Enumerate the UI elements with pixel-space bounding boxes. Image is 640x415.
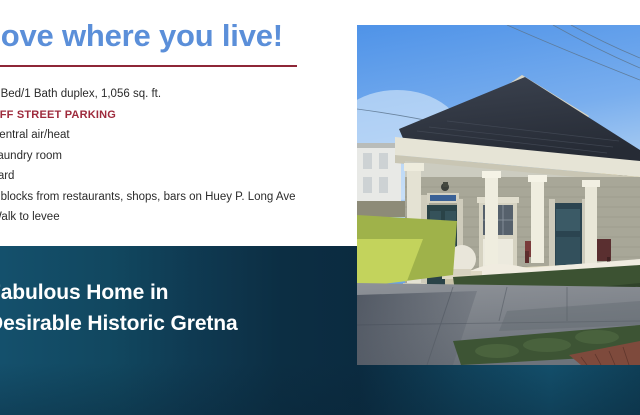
list-item-highlight: OFF STREET PARKING — [0, 105, 351, 126]
banner-title-line1: Fabulous Home in — [0, 281, 168, 304]
banner-title-line2: Desirable Historic Gretna — [0, 308, 408, 339]
feature-list: 2 Bed/1 Bath duplex, 1,056 sq. ft. OFF S… — [0, 84, 351, 228]
info-card: Love where you live! 2 Bed/1 Bath duplex… — [0, 0, 357, 246]
list-item: Laundry room — [0, 146, 351, 167]
list-item: 2 blocks from restaurants, shops, bars o… — [0, 187, 351, 208]
property-flyer: Love where you live! 2 Bed/1 Bath duplex… — [0, 0, 640, 415]
list-item: Central air/heat — [0, 125, 351, 146]
list-item: Yard — [0, 166, 351, 187]
page-title: Love where you live! — [0, 19, 283, 53]
list-item: Walk to levee — [0, 207, 351, 228]
banner-title: Fabulous Home in Desirable Historic Gret… — [0, 277, 408, 339]
list-item: 2 Bed/1 Bath duplex, 1,056 sq. ft. — [0, 84, 351, 105]
title-divider — [0, 65, 297, 67]
